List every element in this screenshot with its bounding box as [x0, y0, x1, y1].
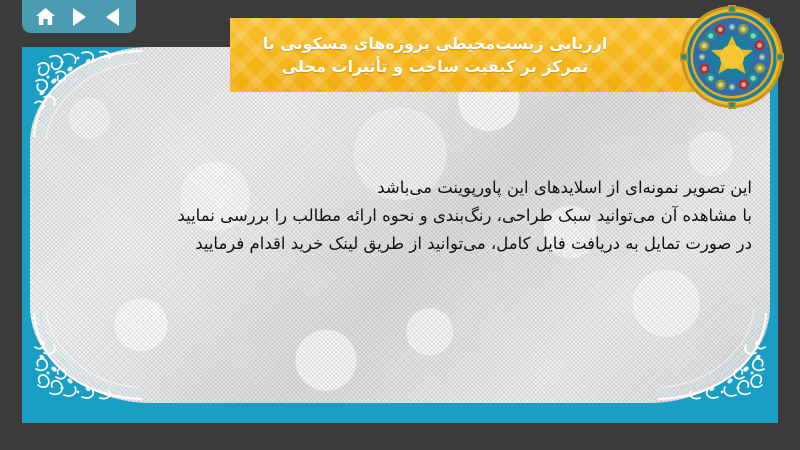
- home-button[interactable]: [33, 4, 59, 30]
- previous-slide-button[interactable]: [99, 4, 125, 30]
- slide-right-accent-strip: [770, 47, 778, 423]
- slide-body-text: این تصویر نمونه‌ای از اسلایدهای این پاور…: [22, 175, 752, 259]
- body-line: این تصویر نمونه‌ای از اسلایدهای این پاور…: [62, 175, 752, 201]
- slide-viewer-window: این تصویر نمونه‌ای از اسلایدهای این پاور…: [0, 0, 800, 450]
- slide-canvas: این تصویر نمونه‌ای از اسلایدهای این پاور…: [22, 47, 778, 423]
- home-icon: [35, 7, 56, 26]
- page-title-line: تمرکز بر کیفیت ساخت و تأثیرات محلی: [282, 55, 589, 78]
- triangle-right-icon: [73, 8, 86, 26]
- title-arrow-shape: [718, 18, 770, 92]
- page-title-line: ارزیابی زیست‌محیطی پروژه‌های مسکونی با: [263, 32, 608, 55]
- next-slide-button[interactable]: [66, 4, 92, 30]
- slide-navigation-bar: [22, 0, 136, 33]
- body-line: با مشاهده آن می‌توانید سبک طراحی، رنگ‌بن…: [62, 203, 752, 229]
- slide-title-banner: ارزیابی زیست‌محیطی پروژه‌های مسکونی با ت…: [230, 18, 770, 92]
- triangle-left-icon: [106, 8, 119, 26]
- body-line: در صورت تمایل به دریافت فایل کامل، می‌تو…: [62, 231, 752, 257]
- slide-bottom-accent-strip: [22, 403, 778, 423]
- title-banner-body: ارزیابی زیست‌محیطی پروژه‌های مسکونی با ت…: [230, 18, 718, 92]
